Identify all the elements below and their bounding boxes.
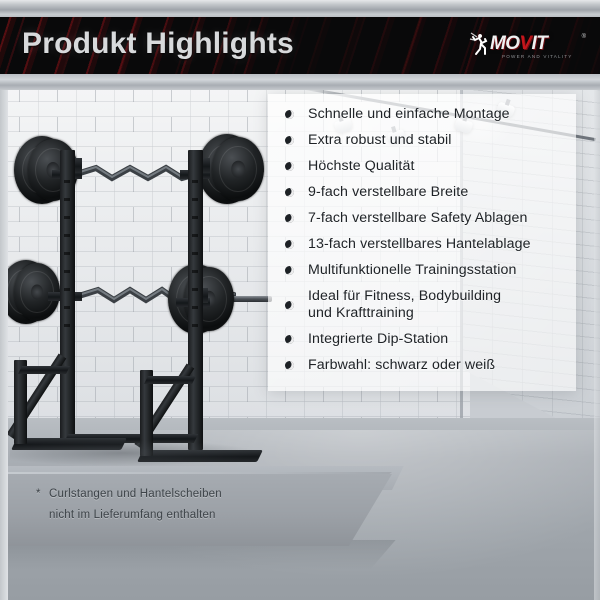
frame-right: [594, 90, 600, 600]
running-figure-icon: [468, 31, 492, 57]
feature-text: 13-fach verstellbares Hantelablage: [308, 236, 562, 253]
crescent-bullet-icon: [285, 214, 294, 223]
crescent-bullet-icon: [285, 162, 294, 171]
crescent-bullet-icon: [285, 361, 294, 370]
rack-support: [18, 366, 70, 374]
list-item: 9-fach verstellbare Breite: [282, 184, 562, 201]
feature-text: Multifunktionelle Trainingsstation: [308, 262, 562, 279]
j-hook-upright: [202, 158, 210, 173]
footnote-line-2: nicht im Lieferumfang enthalten: [36, 505, 336, 526]
logo-wordmark: MOVIT: [490, 33, 547, 55]
logo-tagline: POWER AND VITALITY: [502, 54, 573, 59]
header-banner: Produkt Highlights MOVIT ® POWER AND VIT…: [0, 17, 600, 75]
crescent-bullet-icon: [285, 188, 294, 197]
frame-left: [0, 90, 8, 600]
feature-text-cont: und Krafttraining: [308, 305, 562, 322]
trademark-symbol: ®: [582, 34, 586, 40]
list-item: Extra robust und stabil: [282, 132, 562, 149]
footnote-marker: *: [36, 484, 41, 505]
features-list: Schnelle und einfache Montage Extra robu…: [282, 106, 562, 375]
movit-logo: MOVIT ® POWER AND VITALITY: [468, 31, 584, 63]
feature-text: 7-fach verstellbare Safety Ablagen: [308, 210, 562, 227]
page-title: Produkt Highlights: [22, 27, 294, 61]
banner-bottom-edge: [0, 74, 600, 90]
crescent-bullet-icon: [285, 240, 294, 249]
feature-text: Integrierte Dip-Station: [308, 331, 562, 348]
features-panel: Schnelle und einfache Montage Extra robu…: [268, 94, 576, 391]
list-item: Schnelle und einfache Montage: [282, 106, 562, 123]
crescent-bullet-icon: [285, 335, 294, 344]
feature-text: 9-fach verstellbare Breite: [308, 184, 562, 201]
list-item: Multifunktionelle Trainingsstation: [282, 262, 562, 279]
j-hook-upright: [74, 158, 82, 173]
footnote: * Curlstangen und Hantelscheiben nicht i…: [36, 484, 336, 527]
crescent-bullet-icon: [285, 301, 294, 310]
feature-text: Farbwahl: schwarz oder weiß: [308, 357, 562, 374]
list-item: 7-fach verstellbare Safety Ablagen: [282, 210, 562, 227]
adjustment-holes: [64, 180, 70, 340]
crescent-bullet-icon: [285, 136, 294, 145]
list-item: Ideal für Fitness, Bodybuilding und Kraf…: [282, 288, 562, 323]
feature-text: Ideal für Fitness, Bodybuilding: [308, 288, 562, 305]
crescent-bullet-icon: [285, 266, 294, 275]
list-item: 13-fach verstellbares Hantelablage: [282, 236, 562, 253]
list-item: Integrierte Dip-Station: [282, 331, 562, 348]
feature-text: Schnelle und einfache Montage: [308, 106, 562, 123]
product-highlights-image: * Curlstangen und Hantelscheiben nicht i…: [0, 0, 600, 600]
adjustment-holes: [192, 180, 198, 340]
crescent-bullet-icon: [285, 110, 294, 119]
list-item: Höchste Qualität: [282, 158, 562, 175]
rack-shadow: [10, 440, 260, 466]
feature-text: Höchste Qualität: [308, 158, 562, 175]
footnote-line-1: Curlstangen und Hantelscheiben: [36, 484, 336, 505]
squat-rack-icon: [0, 120, 280, 460]
rack-support: [144, 376, 196, 384]
list-item: Farbwahl: schwarz oder weiß: [282, 357, 562, 374]
banner-top-edge: [0, 0, 600, 18]
feature-text: Extra robust und stabil: [308, 132, 562, 149]
